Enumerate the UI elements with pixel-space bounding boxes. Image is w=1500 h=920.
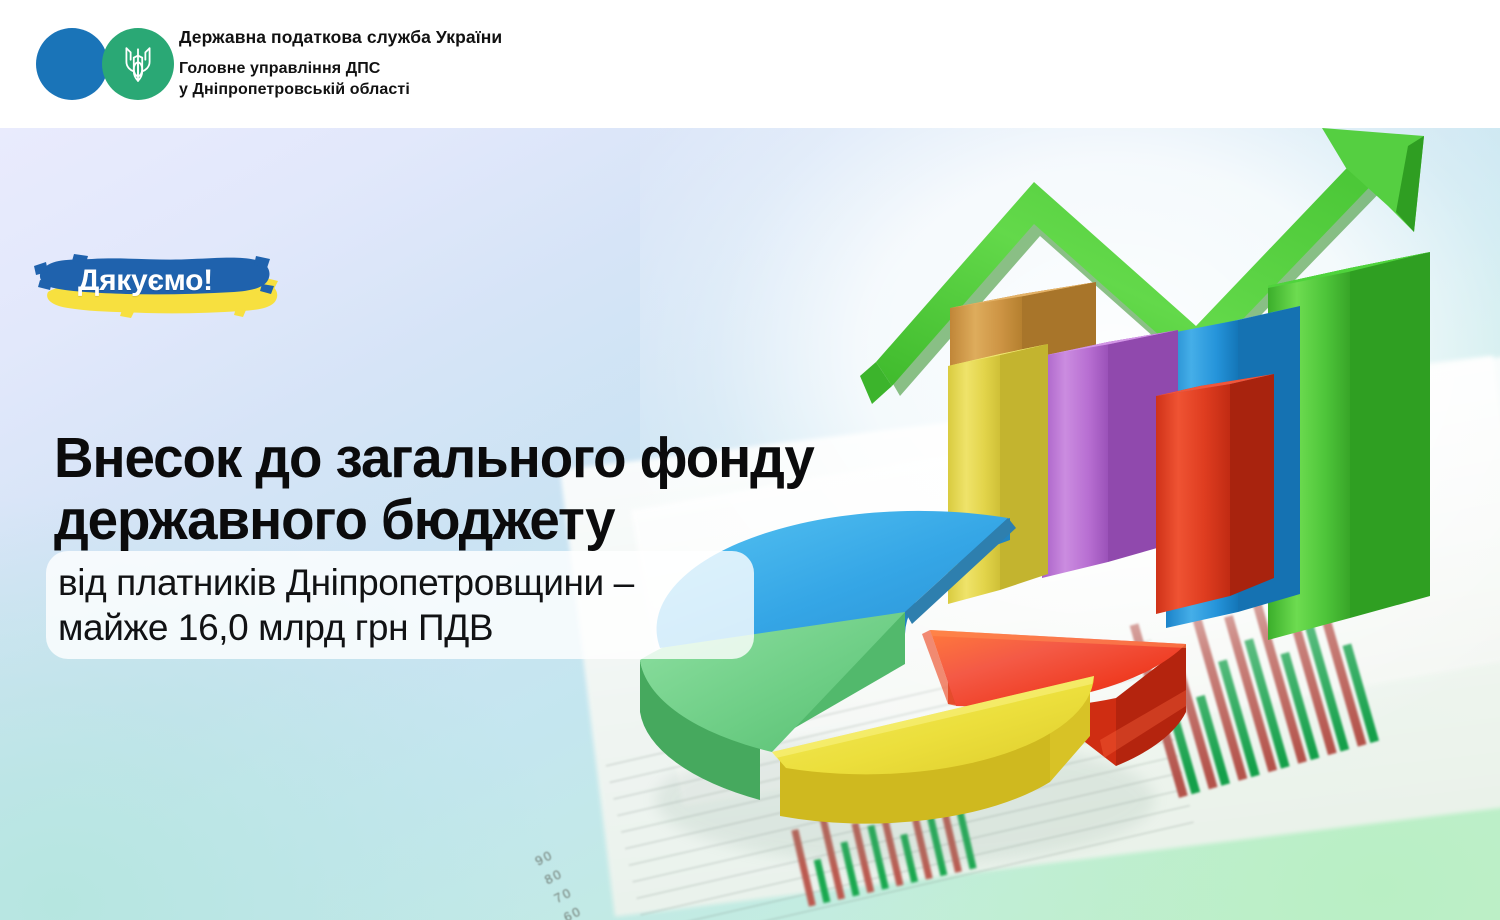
bar-red bbox=[1156, 374, 1274, 614]
header-subtitle: Головне управління ДПС у Дніпропетровськ… bbox=[179, 58, 502, 100]
header-title: Державна податкова служба України bbox=[179, 27, 502, 49]
subtitle-card: від платників Дніпропетровщини – майже 1… bbox=[46, 551, 754, 659]
logo-green-circle-icon bbox=[102, 28, 174, 100]
dps-logo[interactable] bbox=[36, 28, 171, 100]
badge-label: Дякуємо! bbox=[78, 264, 213, 298]
site-header: Державна податкова служба України Головн… bbox=[0, 0, 1500, 128]
page-title: Внесок до загального фонду державного бю… bbox=[54, 428, 860, 551]
ukrainian-trident-icon bbox=[121, 44, 155, 84]
subtitle-text: від платників Дніпропетровщини – майже 1… bbox=[58, 560, 634, 650]
logo-blue-circle-icon bbox=[36, 28, 108, 100]
banner-root: 90807060 5040302010 bbox=[0, 0, 1500, 920]
thank-you-badge: Дякуємо! bbox=[30, 248, 286, 322]
header-text-block: Державна податкова служба України Головн… bbox=[179, 27, 502, 100]
